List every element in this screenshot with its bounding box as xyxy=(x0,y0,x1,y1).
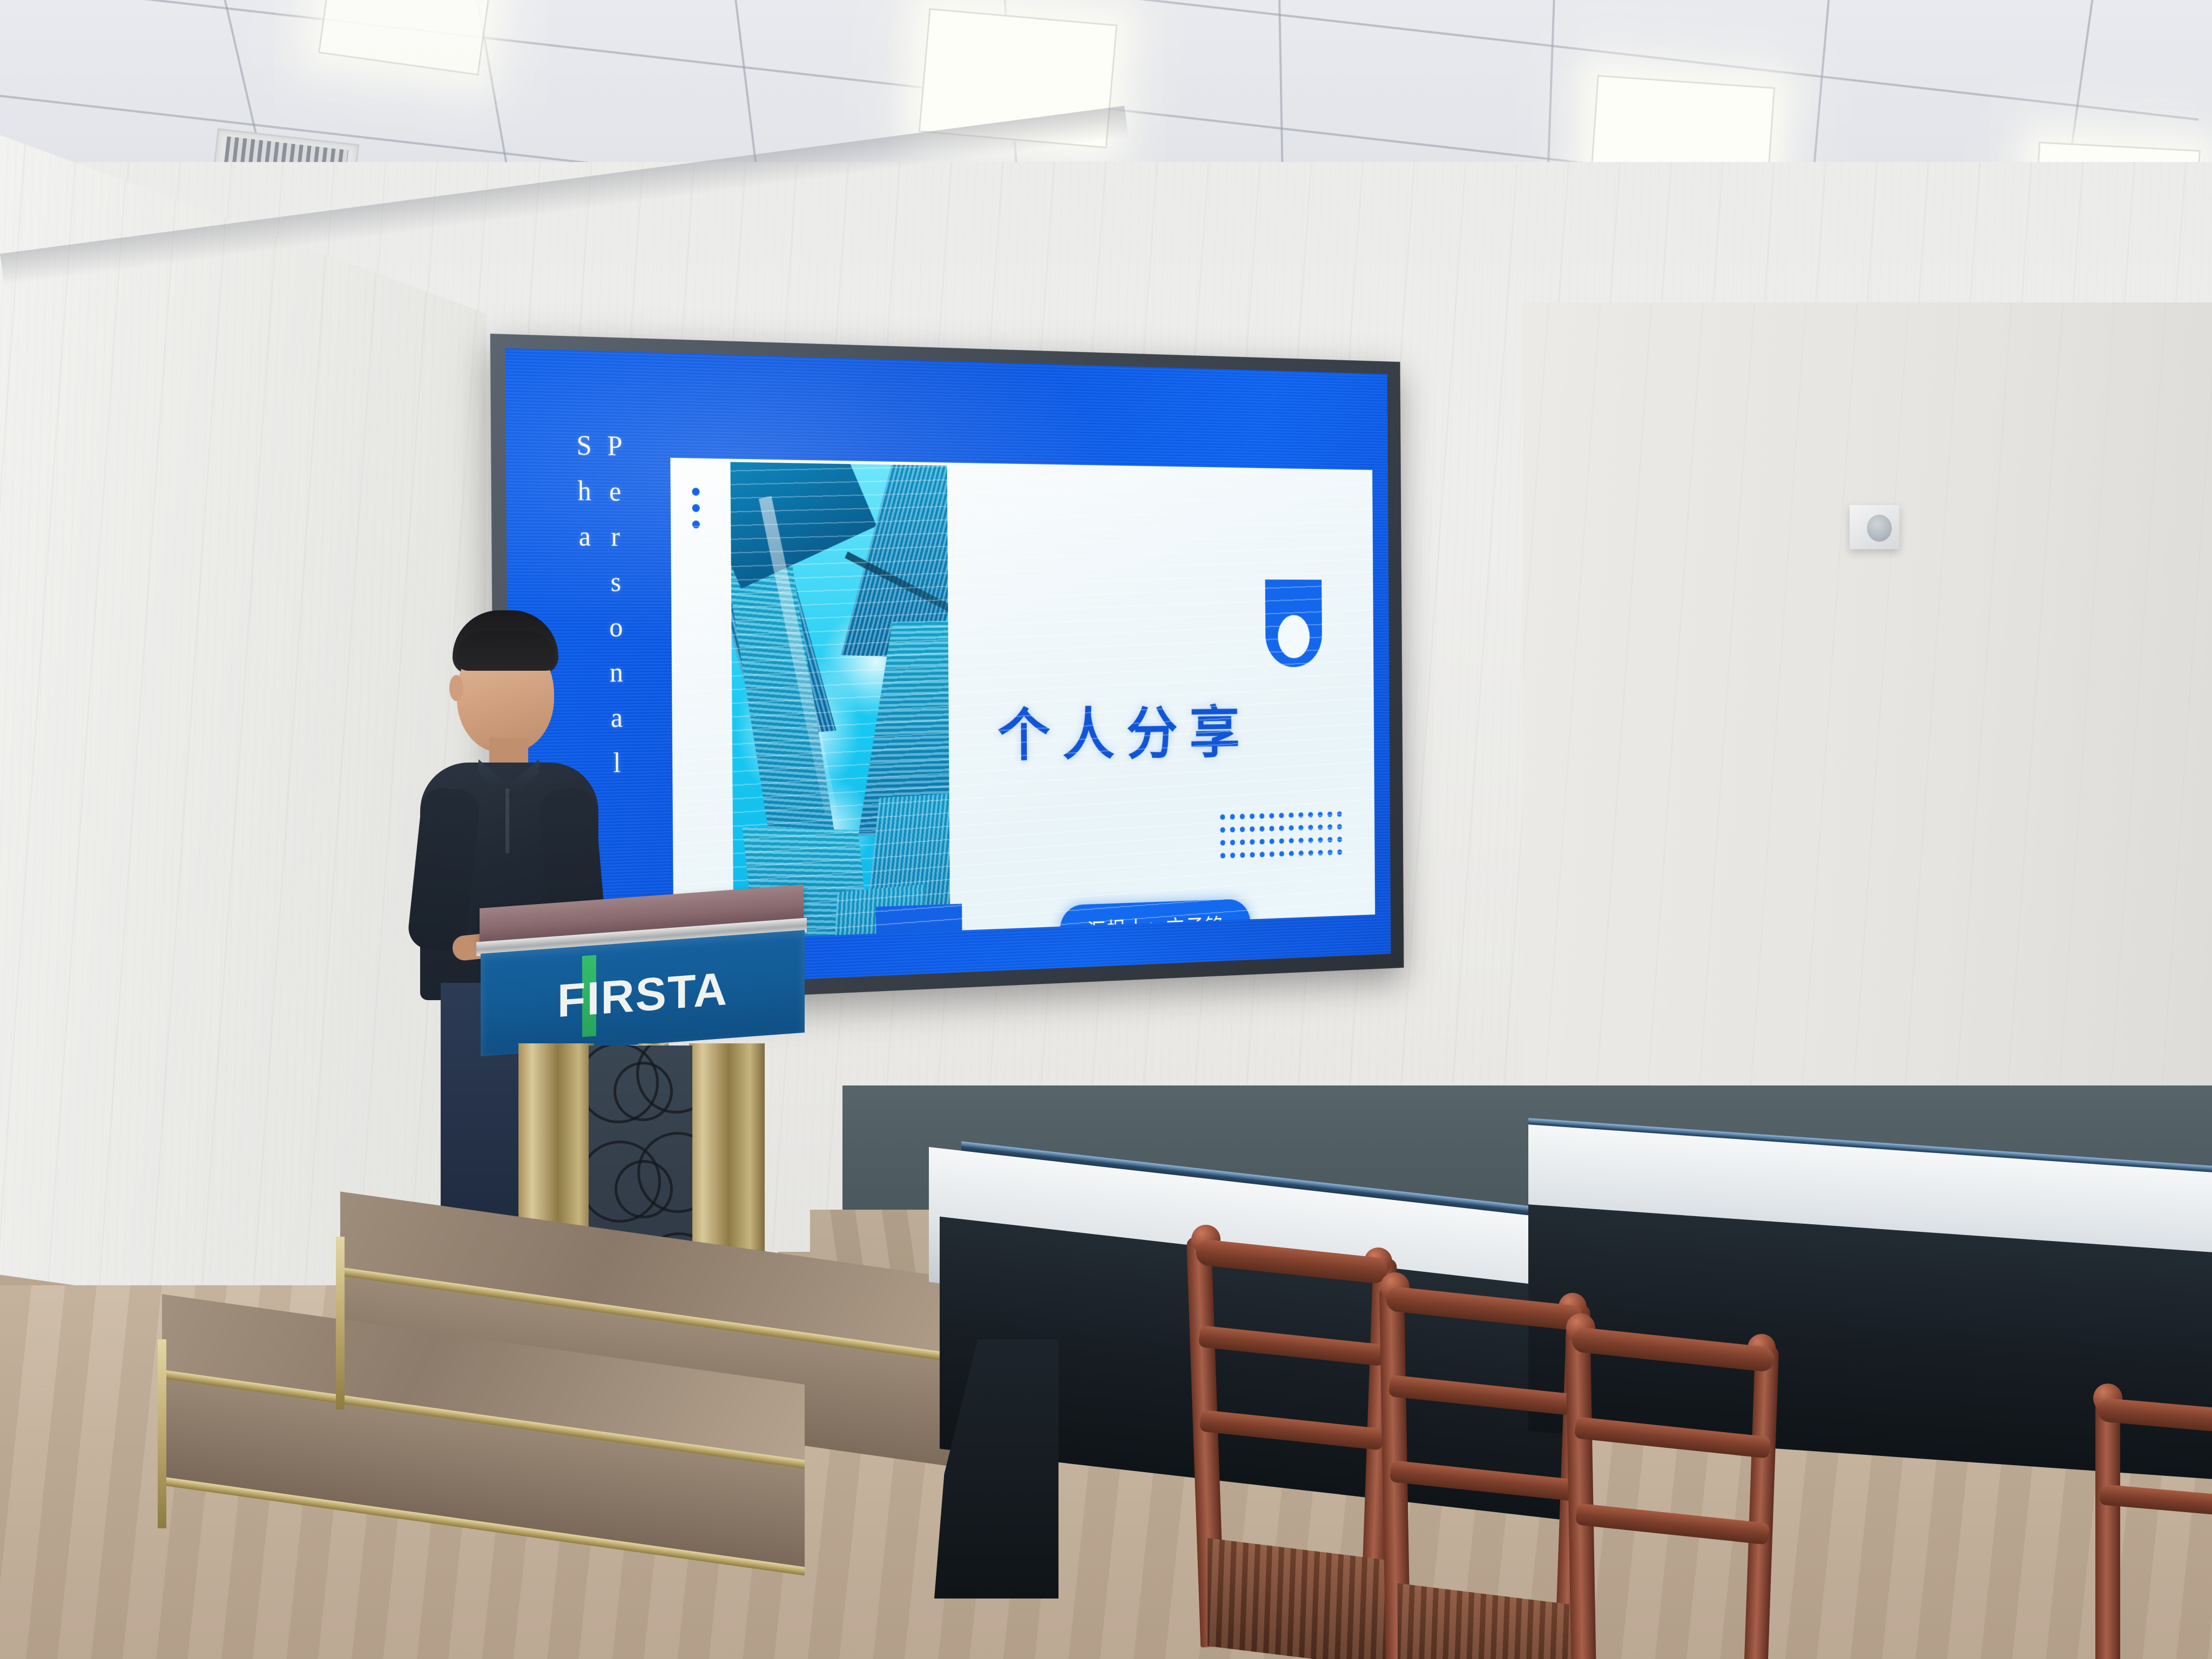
presentation-slide: Personal Sha xyxy=(505,348,1391,992)
chair-3 xyxy=(1555,1312,1798,1659)
chair-4 xyxy=(2090,1382,2212,1659)
three-dots-icon xyxy=(692,488,700,528)
slide-content-card: 个人分享 汇报人：方子铭 xyxy=(670,458,1375,941)
stage-platform xyxy=(162,1237,983,1659)
stage-trim-edge-mid xyxy=(336,1237,345,1410)
right-wall-panel xyxy=(1523,302,2212,1145)
stage-trim-edge-left xyxy=(158,1339,166,1528)
presenter-fringe xyxy=(456,631,555,671)
presentation-room-scene: Personal Sha xyxy=(0,0,2212,1659)
presenter-ear xyxy=(449,675,463,701)
wall-speaker-icon xyxy=(1850,505,1899,549)
slide-title: 个人分享 xyxy=(997,704,1317,765)
cityscape-photo xyxy=(730,462,950,941)
shield-logo-icon xyxy=(1265,579,1323,667)
presenter-placket xyxy=(505,788,509,853)
decorative-dot-grid xyxy=(1220,811,1347,866)
